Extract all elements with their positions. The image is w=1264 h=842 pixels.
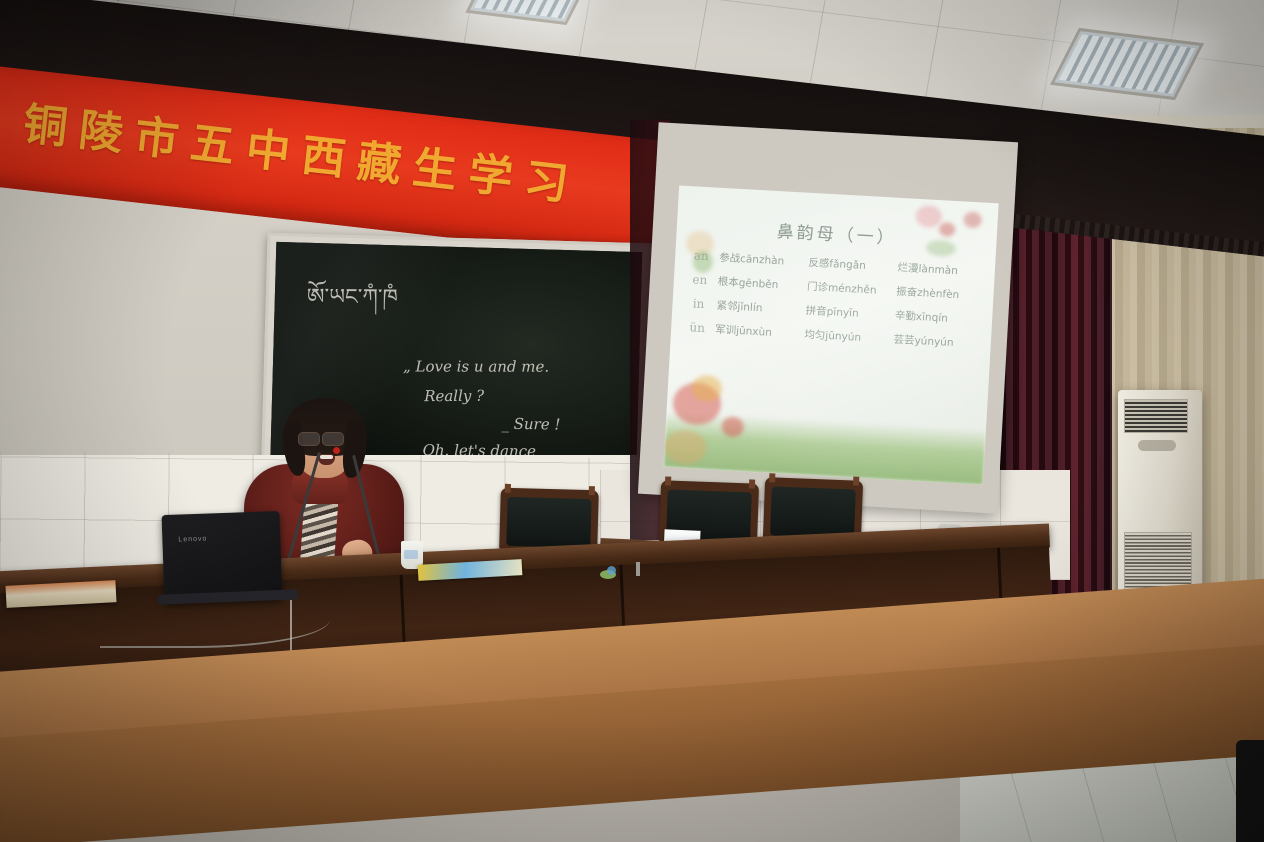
word-cell: 参战cānzhàn [719,250,809,270]
ac-brand-badge [1138,440,1176,451]
word-cell: 军训jūnxùn [715,322,805,342]
word-cell: 均匀jūnyún [804,327,894,347]
laptop-brand-label: Lenovo [178,536,207,544]
microphone-head-icon [333,447,340,454]
vowel-label: in [680,296,717,312]
word-cell: 振奋zhènfèn [896,284,986,304]
projection-screen: 鼻韵母（一） an 参战cānzhàn 反感fǎngǎn 烂漫lànmàn en… [638,122,1018,514]
word-cell: 紧邻jǐnlín [716,298,806,318]
glasses-icon [322,432,344,446]
blackboard-line: „ Love is u and me. [403,357,549,375]
word-cell: 芸芸yúnyún [893,332,983,352]
desk-small-item[interactable] [607,566,616,575]
slide-word-table: an 参战cānzhàn 反感fǎngǎn 烂漫lànmàn en 根本gēnb… [678,248,987,361]
vowel-label: ün [679,320,716,336]
classroom-scene: 铜陵市五中西藏生学习 ཨོ་ཡང་ཀཾ་ཁཾ „ Love is u and m… [0,0,1264,842]
blackboard-line: Really ? [424,387,484,405]
word-cell: 门诊ménzhěn [807,279,897,299]
word-cell: 烂漫lànmàn [897,260,987,280]
desk-small-item[interactable] [636,562,640,576]
word-cell: 拼音pīnyīn [805,303,895,323]
blackboard-line: _ Sure ! [501,415,560,434]
vowel-label: an [683,248,720,264]
slide-title: 鼻韵母（一） [676,211,997,254]
word-cell: 根本gēnběn [717,274,807,294]
laptop[interactable]: Lenovo [162,511,283,603]
projected-slide: 鼻韵母（一） an 参战cānzhàn 反感fǎngǎn 烂漫lànmàn en… [663,185,998,484]
vowel-label: en [682,272,719,288]
word-cell: 辛勤xīnqín [894,308,984,328]
foreground-object [1236,740,1264,842]
chair-left[interactable] [499,488,599,553]
slide-blossom-icon [963,211,982,228]
blackboard-tibetan-text: ཨོ་ཡང་ཀཾ་ཁཾ [306,272,398,335]
word-cell: 反感fǎngǎn [808,255,898,275]
ac-top-vent [1124,399,1188,433]
glasses-icon [298,432,320,446]
